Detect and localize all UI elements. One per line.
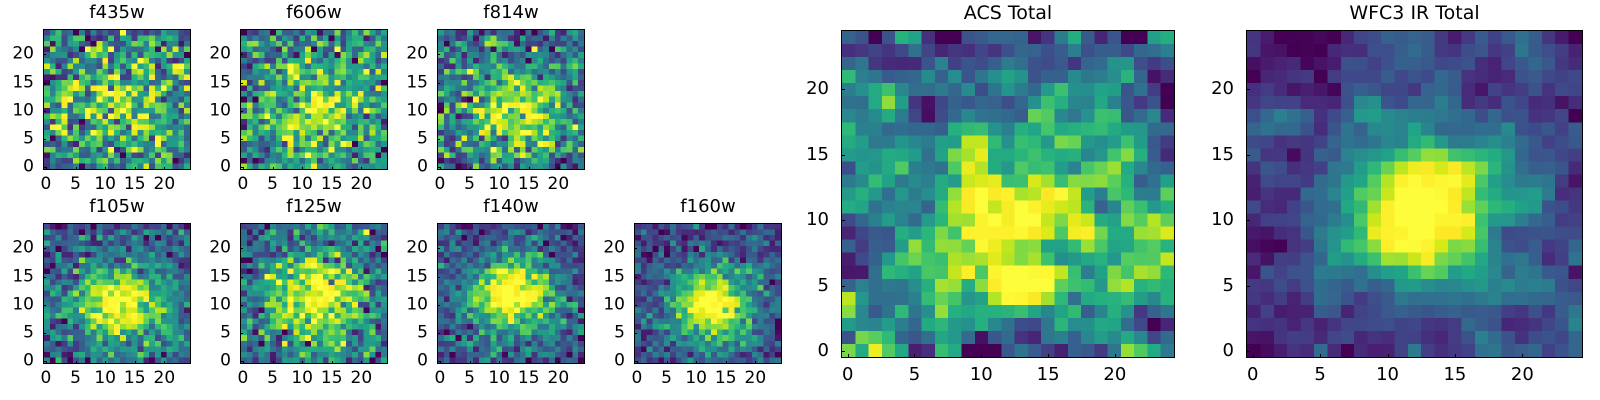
y-tick-mark [1246,286,1250,287]
y-tick-mark [240,167,243,168]
x-tick-mark [848,354,849,358]
x-tick-label: 20 [1103,366,1126,384]
x-tick-mark [499,361,500,364]
heatmap-axes [43,29,191,170]
y-tick-mark [841,286,845,287]
panel-f160w: f160w0510152005101520 [0,0,1600,400]
y-tick-label: 15 [0,268,34,285]
x-tick-label: 20 [351,370,373,387]
x-tick-mark [529,167,530,170]
y-tick-mark [43,54,46,55]
y-tick-mark [1246,220,1250,221]
x-tick-mark [667,361,668,364]
y-tick-label: 0 [388,353,428,370]
y-tick-mark [634,277,637,278]
y-tick-mark [437,333,440,334]
x-tick-label: 15 [321,176,343,193]
x-tick-mark [440,361,441,364]
heatmap-axes [841,30,1175,358]
heatmap-axes [240,223,388,364]
y-tick-label: 15 [191,74,231,91]
x-tick-label: 0 [842,366,853,384]
x-tick-label: 20 [745,370,767,387]
x-tick-mark [164,361,165,364]
y-tick-mark [1246,351,1250,352]
x-tick-label: 0 [41,176,52,193]
y-tick-mark [43,139,46,140]
x-tick-mark [755,361,756,364]
x-tick-mark [529,361,530,364]
x-tick-label: 15 [518,176,540,193]
y-tick-label: 0 [1194,342,1234,360]
panel-f814w: f814w0510152005101520 [0,0,1600,400]
x-tick-mark [105,361,106,364]
x-tick-label: 5 [464,370,475,387]
y-tick-label: 20 [191,46,231,63]
y-tick-mark [437,83,440,84]
panel-title: f160w [634,198,782,216]
y-tick-mark [1246,89,1250,90]
x-tick-mark [164,167,165,170]
panel-title: f814w [437,4,585,22]
x-tick-label: 10 [488,176,510,193]
x-tick-mark [470,361,471,364]
y-tick-label: 5 [0,130,34,147]
figure-canvas: f435w0510152005101520f606w05101520051015… [0,0,1600,400]
x-tick-mark [135,167,136,170]
panel-title: f125w [240,198,388,216]
y-tick-label: 10 [1194,211,1234,229]
y-tick-label: 10 [585,296,625,313]
x-tick-label: 15 [715,370,737,387]
panel-wfc3-ir-total: WFC3 IR Total0510152005101520 [0,0,1600,400]
panel-title: f140w [437,198,585,216]
heatmap-image [1247,31,1582,357]
y-tick-label: 5 [585,324,625,341]
x-tick-mark [332,167,333,170]
x-tick-label: 10 [291,176,313,193]
y-tick-label: 5 [1194,277,1234,295]
heatmap-image [438,30,584,169]
panel-f105w: f105w0510152005101520 [0,0,1600,400]
y-tick-label: 0 [789,342,829,360]
y-tick-mark [43,361,46,362]
y-tick-label: 5 [191,130,231,147]
y-tick-label: 10 [191,102,231,119]
x-tick-label: 20 [154,370,176,387]
y-tick-mark [43,83,46,84]
panel-f140w: f140w0510152005101520 [0,0,1600,400]
y-tick-mark [841,351,845,352]
x-tick-label: 5 [1314,366,1325,384]
y-tick-mark [240,139,243,140]
x-tick-mark [558,361,559,364]
y-tick-label: 15 [585,268,625,285]
y-tick-mark [437,361,440,362]
panel-f435w: f435w0510152005101520 [0,0,1600,400]
y-tick-mark [240,277,243,278]
heatmap-image [635,224,781,363]
y-tick-mark [43,305,46,306]
x-tick-label: 5 [70,176,81,193]
y-tick-label: 15 [388,74,428,91]
panel-title: ACS Total [841,4,1175,23]
x-tick-label: 10 [94,370,116,387]
y-tick-label: 10 [191,296,231,313]
x-tick-label: 5 [267,370,278,387]
y-tick-label: 15 [388,268,428,285]
y-tick-label: 0 [388,159,428,176]
y-tick-mark [43,277,46,278]
y-tick-label: 0 [0,159,34,176]
x-tick-label: 15 [124,370,146,387]
x-tick-mark [243,167,244,170]
y-tick-label: 0 [191,353,231,370]
y-tick-mark [634,333,637,334]
y-tick-mark [437,305,440,306]
x-tick-mark [46,361,47,364]
y-tick-mark [240,54,243,55]
y-tick-mark [841,220,845,221]
x-tick-label: 10 [291,370,313,387]
y-tick-label: 5 [789,277,829,295]
x-tick-mark [361,361,362,364]
y-tick-mark [43,167,46,168]
x-tick-mark [1115,354,1116,358]
y-tick-mark [841,155,845,156]
x-tick-label: 0 [238,370,249,387]
heatmap-axes [43,223,191,364]
y-tick-mark [634,361,637,362]
x-tick-mark [914,354,915,358]
y-tick-mark [437,111,440,112]
y-tick-mark [437,54,440,55]
heatmap-image [438,224,584,363]
x-tick-label: 15 [1037,366,1060,384]
x-tick-label: 0 [435,176,446,193]
x-tick-mark [696,361,697,364]
x-tick-mark [302,361,303,364]
x-tick-label: 20 [548,176,570,193]
y-tick-mark [841,89,845,90]
y-tick-label: 5 [388,130,428,147]
y-tick-label: 10 [789,211,829,229]
y-tick-mark [43,111,46,112]
x-tick-label: 10 [685,370,707,387]
x-tick-label: 10 [488,370,510,387]
y-tick-label: 0 [585,353,625,370]
heatmap-image [44,30,190,169]
x-tick-mark [1455,354,1456,358]
y-tick-mark [437,277,440,278]
y-tick-label: 20 [1194,80,1234,98]
x-tick-label: 0 [1247,366,1258,384]
y-tick-label: 10 [0,296,34,313]
x-tick-label: 10 [94,176,116,193]
y-tick-mark [240,333,243,334]
heatmap-axes [240,29,388,170]
y-tick-mark [634,248,637,249]
heatmap-image [241,30,387,169]
x-tick-label: 5 [464,176,475,193]
y-tick-mark [634,305,637,306]
x-tick-mark [361,167,362,170]
y-tick-mark [240,305,243,306]
x-tick-label: 15 [1443,366,1466,384]
panel-f606w: f606w0510152005101520 [0,0,1600,400]
x-tick-label: 10 [1376,366,1399,384]
y-tick-label: 15 [789,146,829,164]
panel-f125w: f125w0510152005101520 [0,0,1600,400]
x-tick-label: 10 [970,366,993,384]
x-tick-mark [76,361,77,364]
x-tick-mark [302,167,303,170]
x-tick-mark [1048,354,1049,358]
x-tick-mark [135,361,136,364]
y-tick-mark [43,333,46,334]
x-tick-label: 0 [238,176,249,193]
x-tick-label: 0 [435,370,446,387]
x-tick-label: 20 [351,176,373,193]
x-tick-mark [273,361,274,364]
x-tick-mark [558,167,559,170]
y-tick-mark [240,83,243,84]
heatmap-axes [437,223,585,364]
y-tick-mark [240,111,243,112]
panel-acs-total: ACS Total0510152005101520 [0,0,1600,400]
x-tick-label: 5 [909,366,920,384]
x-tick-mark [332,361,333,364]
y-tick-label: 15 [0,74,34,91]
y-tick-label: 10 [0,102,34,119]
y-tick-label: 0 [191,159,231,176]
x-tick-mark [440,167,441,170]
heatmap-image [44,224,190,363]
x-tick-label: 20 [154,176,176,193]
x-tick-label: 5 [267,176,278,193]
x-tick-label: 15 [124,176,146,193]
x-tick-mark [76,167,77,170]
y-tick-label: 15 [191,268,231,285]
y-tick-mark [43,248,46,249]
y-tick-label: 20 [0,46,34,63]
y-tick-label: 20 [789,80,829,98]
y-tick-label: 20 [388,46,428,63]
x-tick-mark [273,167,274,170]
x-tick-label: 5 [70,370,81,387]
x-tick-mark [981,354,982,358]
y-tick-mark [437,167,440,168]
x-tick-mark [499,167,500,170]
x-tick-mark [726,361,727,364]
x-tick-mark [1253,354,1254,358]
x-tick-label: 15 [518,370,540,387]
x-tick-mark [1388,354,1389,358]
x-tick-label: 20 [548,370,570,387]
y-tick-label: 20 [191,240,231,257]
panel-title: f105w [43,198,191,216]
x-tick-mark [1320,354,1321,358]
y-tick-label: 15 [1194,146,1234,164]
y-tick-mark [240,248,243,249]
x-tick-label: 15 [321,370,343,387]
y-tick-label: 20 [0,240,34,257]
heatmap-axes [634,223,782,364]
x-tick-label: 0 [632,370,643,387]
x-tick-mark [105,167,106,170]
heatmap-axes [437,29,585,170]
y-tick-label: 5 [388,324,428,341]
y-tick-label: 20 [388,240,428,257]
y-tick-label: 10 [388,296,428,313]
y-tick-mark [437,248,440,249]
y-tick-mark [437,139,440,140]
y-tick-label: 5 [191,324,231,341]
y-tick-label: 20 [585,240,625,257]
x-tick-mark [637,361,638,364]
x-tick-mark [1522,354,1523,358]
panel-title: WFC3 IR Total [1246,4,1583,23]
y-tick-label: 0 [0,353,34,370]
heatmap-image [842,31,1174,357]
y-tick-label: 5 [0,324,34,341]
panel-title: f435w [43,4,191,22]
x-tick-label: 5 [661,370,672,387]
panel-title: f606w [240,4,388,22]
y-tick-label: 10 [388,102,428,119]
x-tick-mark [243,361,244,364]
x-tick-mark [470,167,471,170]
x-tick-mark [46,167,47,170]
heatmap-image [241,224,387,363]
heatmap-axes [1246,30,1583,358]
x-tick-label: 0 [41,370,52,387]
x-tick-label: 20 [1511,366,1534,384]
y-tick-mark [240,361,243,362]
y-tick-mark [1246,155,1250,156]
